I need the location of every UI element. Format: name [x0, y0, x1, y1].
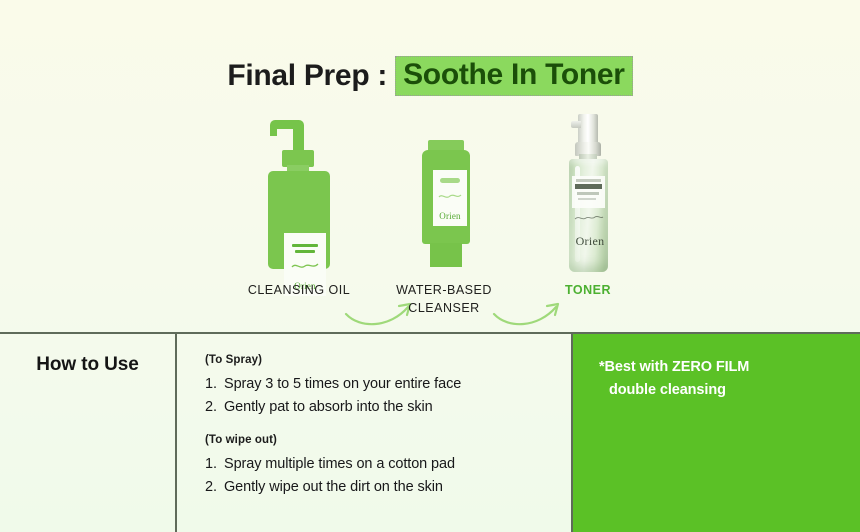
- product-caption-line-1: WATER-BASED: [354, 281, 534, 299]
- how-to-use-label-cell: How to Use: [0, 334, 177, 532]
- tube-body-icon: Orien: [422, 150, 470, 244]
- label-squiggle-icon: [438, 192, 462, 201]
- label-squiggle-icon: [291, 261, 319, 271]
- spray-cap-icon: [578, 114, 598, 144]
- step-text: Spray 3 to 5 times on your entire face: [224, 376, 461, 392]
- instruction-step: 1.Spray multiple times on a cotton pad: [205, 453, 571, 476]
- note-panel: *Best with ZERO FILM double cleansing: [573, 334, 860, 532]
- instruction-step: 1.Spray 3 to 5 times on your entire face: [205, 373, 571, 396]
- label-fineprint-icon: [578, 198, 596, 200]
- page-title-highlighted-term: Soothe In Toner: [395, 56, 633, 96]
- product-image-cleansing-oil: Orien: [262, 120, 340, 270]
- product-image-water-based-cleanser: Orien: [418, 140, 474, 268]
- product-brand-name: Orien: [433, 211, 467, 221]
- step-number: 1.: [205, 453, 224, 476]
- how-to-use-section: How to Use (To Spray) 1.Spray 3 to 5 tim…: [0, 334, 860, 532]
- instruction-steps-cell: (To Spray) 1.Spray 3 to 5 times on your …: [177, 334, 573, 532]
- label-line-1-icon: [292, 244, 318, 247]
- step-text: Gently wipe out the dirt on the skin: [224, 479, 443, 495]
- instruction-group-to-wipe-out: (To wipe out) 1.Spray multiple times on …: [205, 434, 571, 500]
- tube-crimp-icon: [430, 243, 462, 267]
- label-script-icon: [574, 214, 604, 222]
- product-flow-row: Orien Orien: [0, 112, 860, 287]
- note-line-2: double cleansing: [599, 379, 860, 402]
- instruction-group-to-spray: (To Spray) 1.Spray 3 to 5 times on your …: [205, 354, 571, 420]
- product-caption-toner: TONER: [508, 281, 668, 299]
- tube-label: Orien: [433, 170, 467, 226]
- step-text: Spray multiple times on a cotton pad: [224, 456, 455, 472]
- step-number: 2.: [205, 396, 224, 419]
- step-text: Gently pat to absorb into the skin: [224, 399, 433, 415]
- product-image-toner: Orien: [562, 114, 618, 274]
- note-line-1: *Best with ZERO FILM: [599, 356, 860, 379]
- bottle-body-icon: Orien: [268, 171, 330, 269]
- instruction-group-heading: (To Spray): [205, 354, 571, 366]
- pump-nozzle-tip-icon: [270, 127, 277, 136]
- bottle-label: [572, 176, 605, 208]
- label-topline-icon: [576, 179, 601, 182]
- page-title-prefix: Final Prep :: [227, 59, 395, 93]
- label-subline-icon: [577, 192, 599, 195]
- label-pill-icon: [440, 178, 460, 183]
- product-caption-line-2: CLEANSER: [354, 299, 534, 317]
- label-product-name-icon: [575, 184, 602, 189]
- product-brand-name: Orien: [562, 234, 618, 249]
- instruction-step: 2.Gently pat to absorb into the skin: [205, 396, 571, 419]
- instruction-group-heading: (To wipe out): [205, 434, 571, 446]
- spray-trigger-icon: [571, 121, 581, 128]
- step-number: 2.: [205, 476, 224, 499]
- step-number: 1.: [205, 373, 224, 396]
- instruction-step: 2.Gently wipe out the dirt on the skin: [205, 476, 571, 499]
- hero-section: Final Prep : Soothe In Toner Orien: [0, 0, 860, 333]
- label-line-2-icon: [295, 250, 315, 253]
- how-to-use-label: How to Use: [36, 354, 138, 376]
- product-caption-water-based-cleanser: WATER-BASED CLEANSER: [354, 281, 534, 317]
- page-title: Final Prep : Soothe In Toner: [0, 56, 860, 96]
